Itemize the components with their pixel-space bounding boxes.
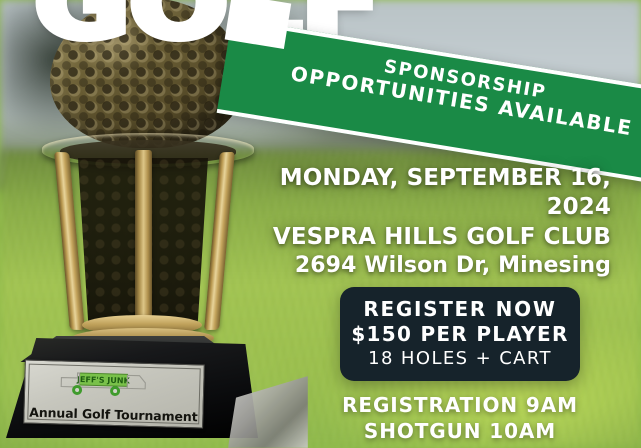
- schedule-item: SHOTGUN 10AM: [300, 418, 620, 444]
- trophy-arm-middle: [135, 150, 152, 326]
- event-info-block: MONDAY, SEPTEMBER 16, 2024 VESPRA HILLS …: [211, 164, 611, 281]
- schedule-item: REGISTRATION 9AM: [300, 392, 620, 418]
- register-now-box[interactable]: REGISTER NOW $150 PER PLAYER 18 HOLES + …: [340, 287, 580, 381]
- junk-truck-logo-icon: JEFF'S JUNK: [53, 367, 158, 401]
- register-includes: 18 HOLES + CART: [368, 347, 552, 370]
- schedule-block: REGISTRATION 9AM SHOTGUN 10AM LUNCH PROV…: [300, 392, 620, 448]
- register-price: $150 PER PLAYER: [351, 322, 568, 347]
- svg-text:JEFF'S JUNK: JEFF'S JUNK: [76, 375, 131, 386]
- event-venue: VESPRA HILLS GOLF CLUB: [211, 223, 611, 252]
- register-headline: REGISTER NOW: [363, 297, 556, 322]
- event-address: 2694 Wilson Dr, Minesing: [211, 252, 611, 281]
- event-date: MONDAY, SEPTEMBER 16, 2024: [211, 164, 611, 223]
- golf-tournament-poster: JEFF'S JUNK Annual Golf Tournament GOLF …: [0, 0, 641, 448]
- trophy-plaque: JEFF'S JUNK Annual Golf Tournament: [23, 359, 205, 428]
